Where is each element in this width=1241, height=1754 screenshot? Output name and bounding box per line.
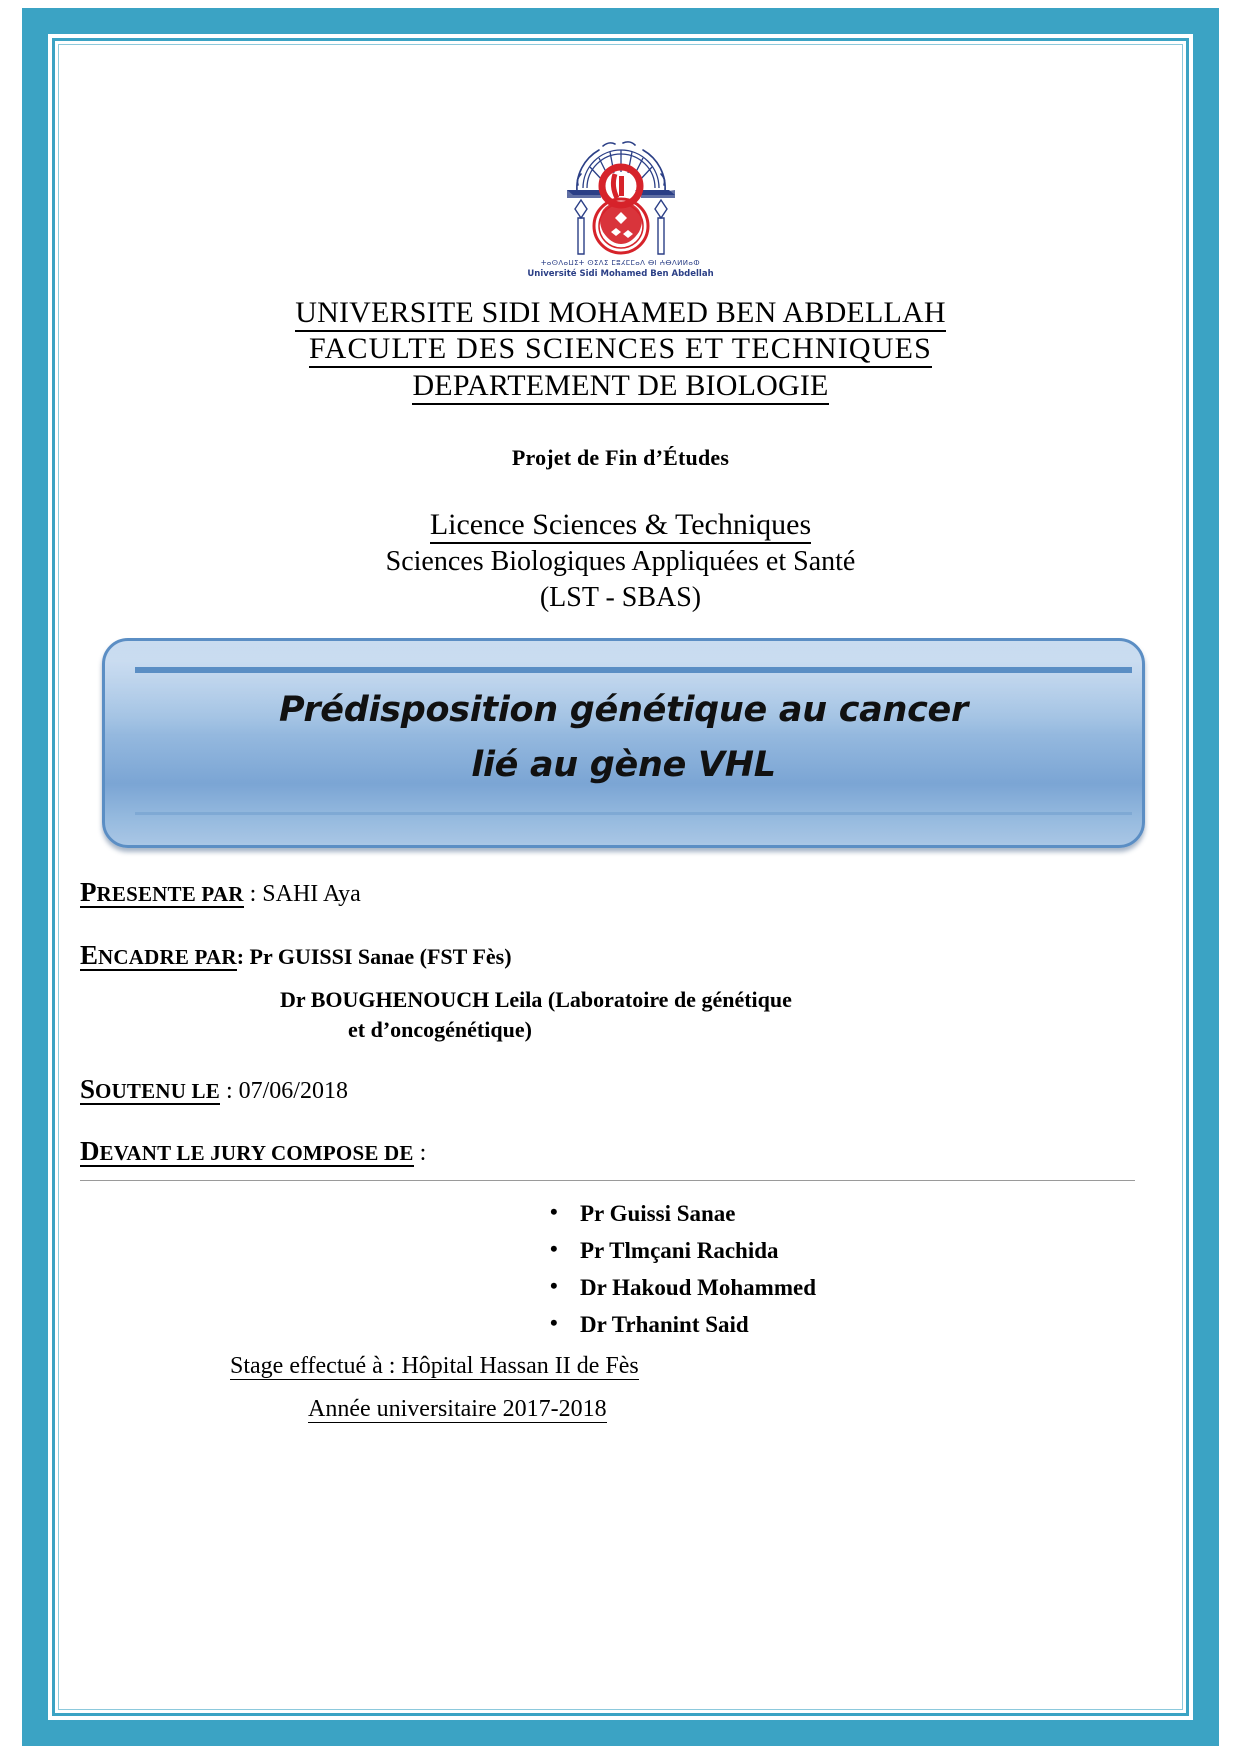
department-name-text: DEPARTEMENT DE BIOLOGIE	[412, 369, 828, 405]
jury-member-name: Pr Tlmçani Rachida	[580, 1238, 779, 1263]
academic-year-line: Année universitaire 2017-2018	[80, 1393, 1145, 1427]
degree-line-1: Licence Sciences & Techniques	[62, 505, 1179, 544]
defense-date-label: SOUTENU LE	[80, 1078, 220, 1105]
thesis-title: Prédisposition génétique au cancer lié a…	[105, 641, 1142, 792]
presented-by-separator: :	[244, 881, 263, 907]
bullet-icon: •	[550, 1231, 558, 1267]
presented-by-value: SAHI Aya	[262, 881, 360, 907]
defense-date-separator: :	[220, 1078, 239, 1104]
list-item: • Dr Trhanint Said	[80, 1306, 1145, 1343]
jury-member-name: Dr Hakoud Mohammed	[580, 1275, 816, 1300]
presented-by-label: PRESENTE PAR	[80, 881, 244, 908]
jury-separator: :	[414, 1140, 427, 1166]
title-banner-zone: Prédisposition génétique au cancer lié a…	[62, 638, 1179, 848]
banner-accent-line-bottom	[135, 812, 1132, 815]
project-type-label: Projet de Fin d’Études	[62, 445, 1179, 471]
submission-details: PRESENTE PAR : SAHI Aya ENCADRE PAR: Pr …	[62, 874, 1179, 1426]
faculty-name-line: FACULTE DES SCIENCES ET TECHNIQUES	[62, 331, 1179, 368]
supervised-by-row: ENCADRE PAR: Pr GUISSI Sanae (FST Fès)	[80, 937, 1145, 973]
university-heading: UNIVERSITE SIDI MOHAMED BEN ABDELLAH FAC…	[62, 295, 1179, 405]
list-item: • Pr Tlmçani Rachida	[80, 1232, 1145, 1269]
thesis-title-line-2: lié au gène VHL	[105, 738, 1142, 792]
jury-member-name: Dr Trhanint Said	[580, 1312, 749, 1337]
thesis-title-banner: Prédisposition génétique au cancer lié a…	[102, 638, 1145, 848]
defense-date-value: 07/06/2018	[239, 1078, 348, 1104]
supervisor-second-line: Dr BOUGHENOUCH Leila (Laboratoire de gén…	[280, 985, 1145, 1015]
presented-by-label-initial: P	[80, 877, 97, 907]
supervised-by-label-initial: E	[80, 940, 98, 970]
thesis-title-line-1: Prédisposition génétique au cancer	[105, 683, 1142, 737]
academic-year-text: Année universitaire 2017-2018	[308, 1396, 607, 1423]
supervised-by-label-rest: NCADRE PAR	[98, 945, 237, 969]
degree-line-3: (LST - SBAS)	[62, 580, 1179, 616]
jury-label-rest: EVANT LE JURY COMPOSE DE	[100, 1141, 414, 1165]
internship-location-line: Stage effectué à : Hôpital Hassan II de …	[80, 1350, 1145, 1384]
jury-label-initial: D	[80, 1136, 100, 1166]
bullet-icon: •	[550, 1194, 558, 1230]
jury-member-list: • Pr Guissi Sanae • Pr Tlmçani Rachida •…	[80, 1195, 1145, 1344]
supervisor-third-line: et d’oncogénétique)	[348, 1015, 1145, 1045]
page-content: ⵜⴰⵙⴷⴰⵡⵉⵜ ⵙⵉⴷⵉ ⵎⵓⵃⵎⵎⴰⴷ ⴱⵏ ⵄⴱⴷⵍⵍⴰⵀ Univers…	[62, 48, 1179, 1706]
supervised-by-value: Pr GUISSI Sanae (FST Fès)	[250, 944, 512, 969]
faculty-name-text: FACULTE DES SCIENCES ET TECHNIQUES	[309, 332, 932, 368]
university-name-text: UNIVERSITE SIDI MOHAMED BEN ABDELLAH	[295, 296, 946, 332]
presented-by-label-rest: RESENTE PAR	[97, 882, 244, 906]
jury-member-name: Pr Guissi Sanae	[580, 1201, 736, 1226]
document-page: ⵜⴰⵙⴷⴰⵡⵉⵜ ⵙⵉⴷⵉ ⵎⵓⵃⵎⵎⴰⴷ ⴱⵏ ⵄⴱⴷⵍⵍⴰⵀ Univers…	[0, 0, 1241, 1754]
bullet-icon: •	[550, 1268, 558, 1304]
jury-header-row: DEVANT LE JURY COMPOSE DE :	[80, 1133, 1145, 1169]
defense-date-label-initial: S	[80, 1074, 95, 1104]
internship-location-text: Stage effectué à : Hôpital Hassan II de …	[230, 1353, 639, 1380]
supervised-by-separator: :	[237, 944, 250, 969]
university-logo: ⵜⴰⵙⴷⴰⵡⵉⵜ ⵙⵉⴷⵉ ⵎⵓⵃⵎⵎⴰⴷ ⴱⵏ ⵄⴱⴷⵍⵍⴰⵀ Univers…	[526, 110, 716, 279]
university-name-line: UNIVERSITE SIDI MOHAMED BEN ABDELLAH	[62, 295, 1179, 332]
jury-label: DEVANT LE JURY COMPOSE DE	[80, 1140, 414, 1167]
degree-line-1-text: Licence Sciences & Techniques	[430, 508, 811, 544]
logo-caption-french: Université Sidi Mohamed Ben Abdellah	[526, 269, 716, 279]
bullet-icon: •	[550, 1305, 558, 1341]
supervised-by-label: ENCADRE PAR	[80, 944, 237, 971]
presented-by-row: PRESENTE PAR : SAHI Aya	[80, 874, 1145, 910]
jury-divider	[80, 1180, 1135, 1181]
degree-block: Licence Sciences & Techniques Sciences B…	[62, 505, 1179, 617]
defense-date-row: SOUTENU LE : 07/06/2018	[80, 1071, 1145, 1107]
degree-line-2: Sciences Biologiques Appliquées et Santé	[62, 544, 1179, 580]
defense-date-label-rest: OUTENU LE	[95, 1079, 220, 1103]
list-item: • Dr Hakoud Mohammed	[80, 1269, 1145, 1306]
department-name-line: DEPARTEMENT DE BIOLOGIE	[62, 368, 1179, 405]
logo-caption-tifinagh: ⵜⴰⵙⴷⴰⵡⵉⵜ ⵙⵉⴷⵉ ⵎⵓⵃⵎⵎⴰⴷ ⴱⵏ ⵄⴱⴷⵍⵍⴰⵀ	[526, 260, 716, 268]
list-item: • Pr Guissi Sanae	[80, 1195, 1145, 1232]
university-emblem-icon	[531, 110, 711, 262]
